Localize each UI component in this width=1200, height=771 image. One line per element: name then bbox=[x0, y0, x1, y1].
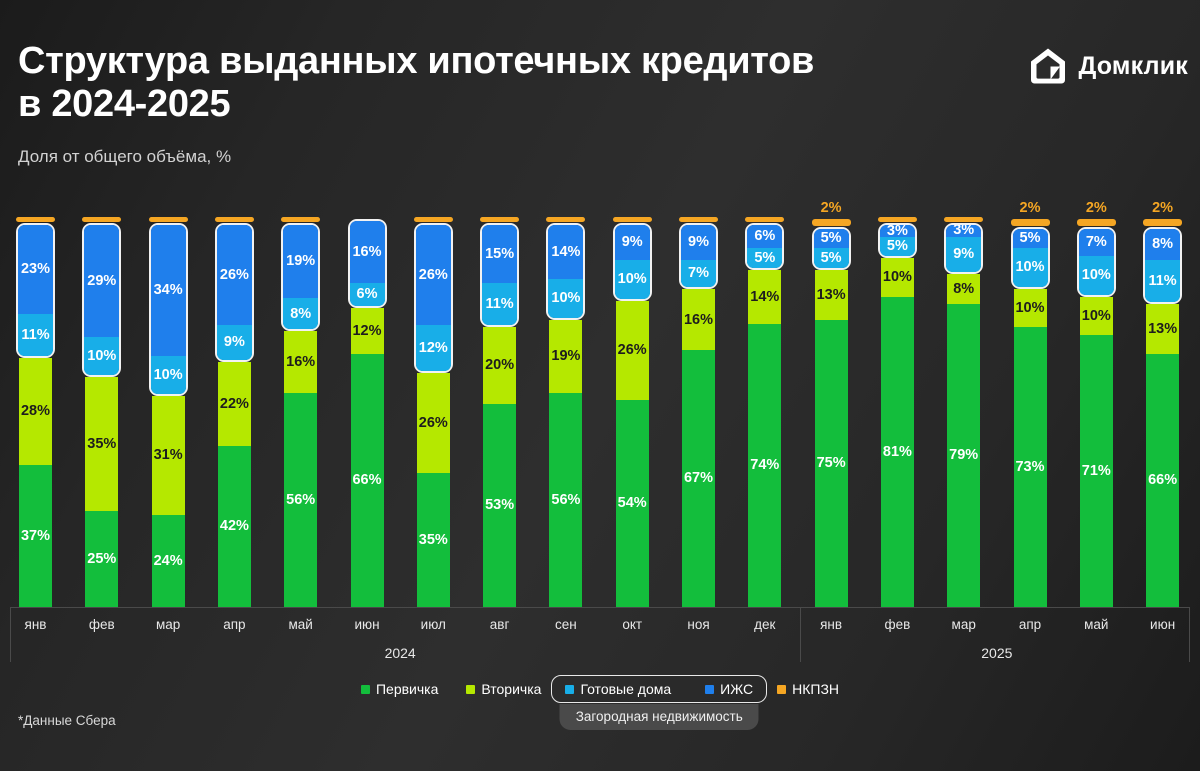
segment-secondary: 31% bbox=[152, 396, 185, 515]
legend-swatch-ready_houses-icon bbox=[565, 685, 574, 694]
bar-дек-2024[interactable]: 74%14% bbox=[748, 228, 781, 607]
bar-июн-2024[interactable]: 66%12% bbox=[351, 224, 384, 607]
segment-primary: 73% bbox=[1014, 327, 1047, 607]
axis-tick-фев-2024: фев bbox=[85, 617, 118, 632]
bar-авг-2024[interactable]: 53%20% bbox=[483, 228, 516, 607]
segment-secondary: 10% bbox=[881, 258, 914, 296]
segment-nkpzn bbox=[546, 217, 585, 222]
segment-nkpzn bbox=[480, 217, 519, 222]
country-group-spacer bbox=[881, 228, 914, 259]
country-group-spacer bbox=[284, 228, 317, 331]
country-group-spacer bbox=[85, 228, 118, 377]
bar-ноя-2024[interactable]: 67%16% bbox=[682, 228, 715, 607]
segment-primary: 71% bbox=[1080, 335, 1113, 607]
bar-фев-2024[interactable]: 25%35% bbox=[85, 228, 118, 607]
segment-primary: 54% bbox=[616, 400, 649, 607]
segment-secondary: 16% bbox=[284, 331, 317, 392]
bar-мар-2024[interactable]: 24%31% bbox=[152, 228, 185, 607]
year-divider bbox=[800, 607, 801, 662]
axis-tick-ноя-2024: ноя bbox=[682, 617, 715, 632]
segment-nkpzn bbox=[679, 217, 718, 222]
axis-tick-авг-2024: авг bbox=[483, 617, 516, 632]
segment-primary: 66% bbox=[1146, 354, 1179, 607]
segment-nkpzn-label: 2% bbox=[1077, 200, 1116, 216]
segment-primary: 56% bbox=[284, 393, 317, 607]
axis-tick-июн-2024: июн bbox=[351, 617, 384, 632]
country-group-spacer bbox=[682, 228, 715, 289]
segment-secondary: 13% bbox=[1146, 304, 1179, 354]
bar-апр-2024[interactable]: 42%22% bbox=[218, 228, 251, 607]
country-group-spacer bbox=[549, 228, 582, 320]
bar-апр-2025[interactable]: 73%10% bbox=[1014, 232, 1047, 607]
axis-tick-апр-2025: апр bbox=[1014, 617, 1047, 632]
country-group-spacer bbox=[947, 228, 980, 274]
axis-tick-июл-2024: июл bbox=[417, 617, 450, 632]
country-group-spacer bbox=[19, 228, 52, 358]
segment-primary: 24% bbox=[152, 515, 185, 607]
segment-nkpzn bbox=[944, 217, 983, 222]
segment-secondary: 22% bbox=[218, 362, 251, 446]
bar-янв-2025[interactable]: 75%13% bbox=[815, 232, 848, 607]
segment-nkpzn bbox=[149, 217, 188, 222]
legend-label-secondary: Вторичка bbox=[481, 681, 541, 697]
legend-swatch-izhs-icon bbox=[705, 685, 714, 694]
segment-primary: 42% bbox=[218, 446, 251, 607]
segment-primary: 81% bbox=[881, 297, 914, 607]
axis-tick-апр-2024: апр bbox=[218, 617, 251, 632]
segment-nkpzn bbox=[16, 217, 55, 222]
axis-tick-окт-2024: окт bbox=[616, 617, 649, 632]
segment-nkpzn bbox=[878, 217, 917, 222]
country-group-spacer bbox=[1146, 232, 1179, 305]
bar-июл-2024[interactable]: 35%26% bbox=[417, 228, 450, 607]
segment-secondary: 12% bbox=[351, 308, 384, 354]
segment-secondary: 10% bbox=[1014, 289, 1047, 327]
segment-primary: 74% bbox=[748, 324, 781, 607]
country-group-spacer bbox=[218, 228, 251, 362]
legend-item-nkpzn[interactable]: НКПЗН bbox=[777, 681, 839, 697]
footnote: *Данные Сбера bbox=[18, 713, 116, 728]
axis-tick-мар-2024: мар bbox=[152, 617, 185, 632]
country-group-spacer bbox=[1014, 232, 1047, 289]
segment-primary: 35% bbox=[417, 473, 450, 607]
chart-legend: ПервичкаВторичкаГотовые домаИЖСНКПЗН bbox=[0, 675, 1200, 703]
country-group-spacer bbox=[351, 224, 384, 308]
segment-primary: 53% bbox=[483, 404, 516, 607]
segment-nkpzn bbox=[281, 217, 320, 222]
bar-окт-2024[interactable]: 54%26% bbox=[616, 228, 649, 607]
segment-nkpzn bbox=[812, 219, 851, 226]
country-group-spacer bbox=[1080, 232, 1113, 297]
country-group-spacer bbox=[616, 228, 649, 301]
segment-nkpzn bbox=[745, 217, 784, 222]
segment-secondary: 16% bbox=[682, 289, 715, 350]
bar-фев-2025[interactable]: 81%10% bbox=[881, 228, 914, 607]
country-group-spacer bbox=[483, 228, 516, 328]
segment-nkpzn bbox=[1143, 219, 1182, 226]
segment-secondary: 13% bbox=[815, 270, 848, 320]
legend-item-izhs[interactable]: ИЖС bbox=[705, 681, 753, 697]
segment-secondary: 8% bbox=[947, 274, 980, 305]
segment-nkpzn-label: 2% bbox=[812, 200, 851, 216]
legend-item-secondary[interactable]: Вторичка bbox=[466, 681, 541, 697]
segment-nkpzn bbox=[82, 217, 121, 222]
legend-swatch-primary-icon bbox=[361, 685, 370, 694]
axis-year-2024: 2024 bbox=[360, 645, 440, 661]
axis-tick-май-2025: май bbox=[1080, 617, 1113, 632]
segment-secondary: 14% bbox=[748, 270, 781, 324]
bar-янв-2024[interactable]: 37%28% bbox=[19, 228, 52, 607]
segment-primary: 25% bbox=[85, 511, 118, 607]
country-group-spacer bbox=[152, 228, 185, 397]
axis-tick-дек-2024: дек bbox=[748, 617, 781, 632]
segment-secondary: 19% bbox=[549, 320, 582, 393]
segment-secondary: 28% bbox=[19, 358, 52, 465]
axis-tick-фев-2025: фев bbox=[881, 617, 914, 632]
axis-year-2025: 2025 bbox=[957, 645, 1037, 661]
segment-nkpzn bbox=[1077, 219, 1116, 226]
axis-tick-сен-2024: сен bbox=[549, 617, 582, 632]
axis-tick-июн-2025: июн bbox=[1146, 617, 1179, 632]
segment-primary: 56% bbox=[549, 393, 582, 607]
chart-page: Структура выданных ипотечных кредитов в … bbox=[0, 0, 1200, 771]
segment-nkpzn-label: 2% bbox=[1011, 200, 1050, 216]
segment-nkpzn bbox=[414, 217, 453, 222]
legend-swatch-nkpzn-icon bbox=[777, 685, 786, 694]
segment-secondary: 20% bbox=[483, 327, 516, 404]
legend-item-primary[interactable]: Первичка bbox=[361, 681, 438, 697]
bar-июн-2025[interactable]: 66%13% bbox=[1146, 232, 1179, 607]
segment-secondary: 10% bbox=[1080, 297, 1113, 335]
segment-primary: 75% bbox=[815, 320, 848, 607]
legend-swatch-secondary-icon bbox=[466, 685, 475, 694]
axis-tick-мар-2025: мар bbox=[947, 617, 980, 632]
axis-tick-янв-2024: янв bbox=[19, 617, 52, 632]
country-group-spacer bbox=[417, 228, 450, 374]
segment-primary: 37% bbox=[19, 465, 52, 607]
bar-май-2024[interactable]: 56%16% bbox=[284, 228, 317, 607]
segment-primary: 67% bbox=[682, 350, 715, 607]
country-group-spacer bbox=[748, 228, 781, 270]
legend-label-nkpzn: НКПЗН bbox=[792, 681, 839, 697]
bar-мар-2025[interactable]: 79%8% bbox=[947, 228, 980, 607]
segment-primary: 79% bbox=[947, 304, 980, 607]
legend-label-primary: Первичка bbox=[376, 681, 438, 697]
axis-tick-янв-2025: янв bbox=[815, 617, 848, 632]
legend-label-ready_houses: Готовые дома bbox=[580, 681, 671, 697]
segment-nkpzn bbox=[1011, 219, 1050, 226]
segment-secondary: 35% bbox=[85, 377, 118, 511]
segment-nkpzn bbox=[613, 217, 652, 222]
bar-май-2025[interactable]: 71%10% bbox=[1080, 232, 1113, 607]
legend-label-izhs: ИЖС bbox=[720, 681, 753, 697]
country-group-spacer bbox=[815, 232, 848, 270]
legend-group-country-property: Готовые домаИЖС bbox=[551, 675, 767, 703]
segment-secondary: 26% bbox=[417, 373, 450, 473]
bar-сен-2024[interactable]: 56%19% bbox=[549, 228, 582, 607]
segment-primary: 66% bbox=[351, 354, 384, 607]
axis-tick-май-2024: май bbox=[284, 617, 317, 632]
segment-nkpzn bbox=[215, 217, 254, 222]
segment-secondary: 26% bbox=[616, 301, 649, 401]
legend-item-ready_houses[interactable]: Готовые дома bbox=[565, 681, 671, 697]
segment-nkpzn-label: 2% bbox=[1143, 200, 1182, 216]
